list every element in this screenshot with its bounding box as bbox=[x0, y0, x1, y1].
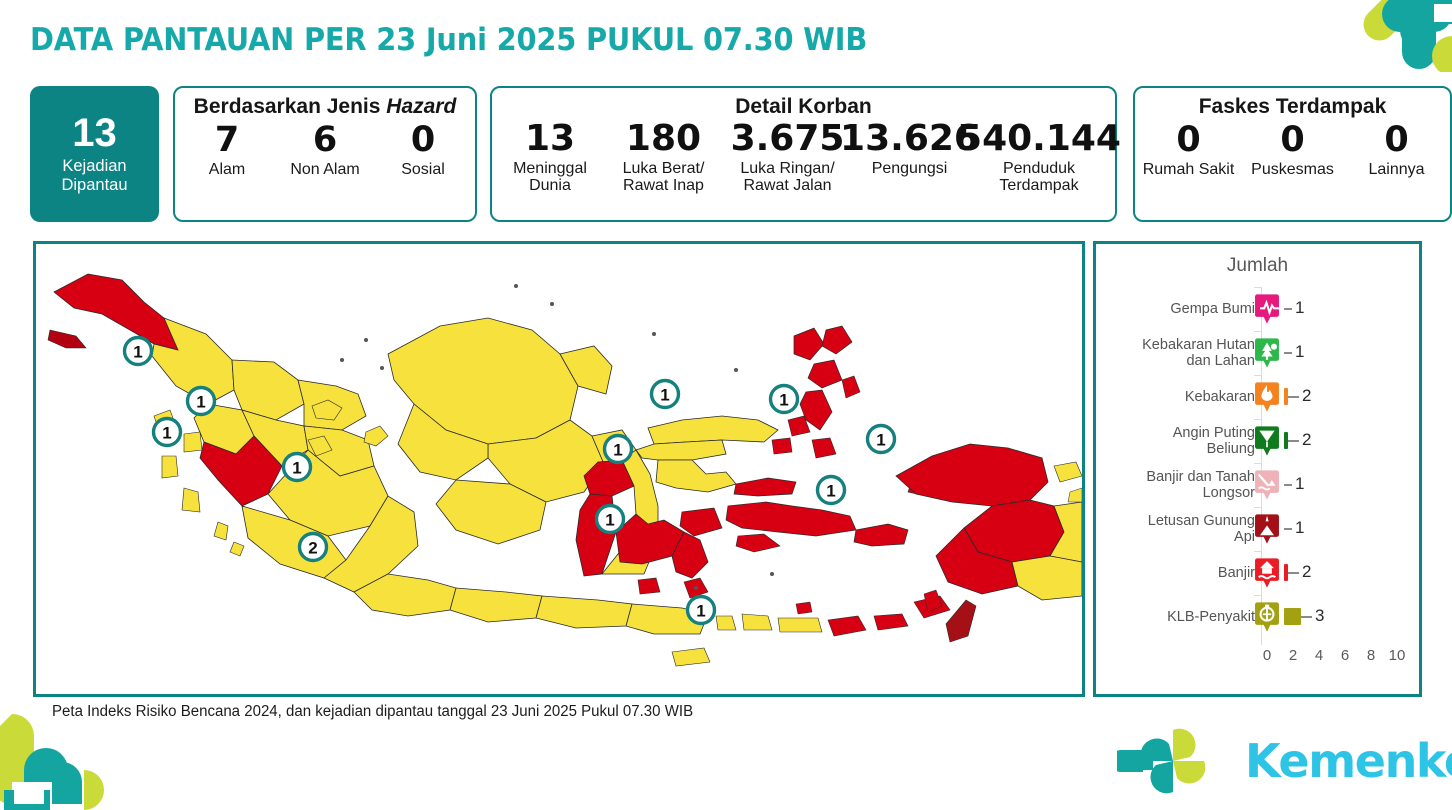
marker-sumbar[interactable]: 1 bbox=[154, 419, 181, 446]
chart-marker-disease-outbreak-icon bbox=[1254, 601, 1280, 633]
earthquake-icon bbox=[1254, 293, 1280, 325]
marker-value: 2 bbox=[308, 539, 317, 558]
x-tick-label: 2 bbox=[1280, 647, 1306, 664]
chart-category-label: Kebakaran Hutandan Lahan bbox=[1095, 337, 1255, 369]
hazard-count-chart-panel: Jumlah Gempa Bumi1Kebakaran Hutandan Lah… bbox=[1093, 241, 1422, 697]
chart-row: Angin PutingBeliung2 bbox=[1096, 419, 1425, 463]
marker-value: 1 bbox=[660, 386, 669, 405]
metric-luka-ringan: 3.675 Luka Ringan/ Rawat Jalan bbox=[725, 120, 850, 195]
faskes-card-title: Faskes Terdampak bbox=[1135, 95, 1450, 119]
chart-value-label: 1 bbox=[1295, 518, 1304, 538]
chart-value-label: 2 bbox=[1302, 562, 1311, 582]
chart-category-label: Kebakaran bbox=[1095, 389, 1255, 405]
x-tick-label: 8 bbox=[1358, 647, 1384, 664]
page-title: DATA PANTAUAN PER 23 Juni 2025 PUKUL 07.… bbox=[30, 22, 867, 58]
faskes-card: Faskes Terdampak 0 Rumah Sakit 0 Puskesm… bbox=[1133, 86, 1452, 222]
metric-luka-berat-label: Luka Berat/ Rawat Inap bbox=[623, 160, 705, 195]
summary-count: 13 bbox=[72, 113, 117, 153]
marker-riau[interactable]: 1 bbox=[188, 388, 215, 415]
chart-value-connector bbox=[1288, 440, 1299, 442]
korban-metrics: 13 Meninggal Dunia 180 Luka Berat/ Rawat… bbox=[492, 120, 1115, 195]
metric-penduduk-terdampak: 540.144 Penduduk Terdampak bbox=[969, 120, 1109, 195]
metric-rumah-sakit-label: Rumah Sakit bbox=[1143, 161, 1235, 179]
metric-alam: 7 Alam bbox=[178, 122, 276, 178]
metric-penduduk-terdampak-label: Penduduk Terdampak bbox=[999, 160, 1078, 195]
metric-puskesmas: 0 Puskesmas bbox=[1241, 122, 1345, 178]
chart-value-label: 3 bbox=[1315, 606, 1324, 626]
chart-value-label: 1 bbox=[1295, 298, 1304, 318]
kemenkes-wordmark: Kemenkes bbox=[1245, 734, 1452, 788]
chart-value-connector bbox=[1301, 616, 1312, 618]
decoration-top-right bbox=[1340, 0, 1452, 100]
metric-meninggal-dunia-value: 13 bbox=[525, 120, 575, 158]
chart-row: Banjir dan TanahLongsor1 bbox=[1096, 463, 1425, 507]
faskes-metrics: 0 Rumah Sakit 0 Puskesmas 0 Lainnya bbox=[1135, 122, 1450, 178]
metric-lainnya-value: 0 bbox=[1384, 122, 1408, 159]
marker-sulteng[interactable]: 1 bbox=[605, 436, 632, 463]
chart-value-connector bbox=[1284, 308, 1292, 310]
marker-papuabarat[interactable]: 1 bbox=[868, 426, 895, 453]
chart-row: Kebakaran2 bbox=[1096, 375, 1425, 419]
metric-non-alam-label: Non Alam bbox=[290, 161, 359, 179]
chart-category-label: KLB-Penyakit bbox=[1095, 609, 1255, 625]
chart-category-label: Angin PutingBeliung bbox=[1095, 425, 1255, 457]
metric-luka-ringan-value: 3.675 bbox=[731, 120, 845, 158]
chart-row: KLB-Penyakit3 bbox=[1096, 595, 1425, 639]
chart-category-label: Gempa Bumi bbox=[1095, 301, 1255, 317]
marker-value: 1 bbox=[876, 431, 885, 450]
chart-row: Banjir2 bbox=[1096, 551, 1425, 595]
chart-value-label: 1 bbox=[1295, 342, 1304, 362]
marker-value: 1 bbox=[292, 459, 301, 478]
disease-outbreak-icon bbox=[1254, 601, 1280, 633]
korban-card-title: Detail Korban bbox=[492, 95, 1115, 119]
chart-marker-volcano-icon bbox=[1254, 513, 1280, 545]
marker-kepri[interactable]: 1 bbox=[284, 454, 311, 481]
chart-value-label: 2 bbox=[1302, 430, 1311, 450]
chart-marker-tornado-icon bbox=[1254, 425, 1280, 457]
metric-meninggal-dunia-label: Meninggal Dunia bbox=[513, 160, 587, 195]
chart-value-connector bbox=[1288, 572, 1299, 574]
chart-value-connector bbox=[1284, 528, 1292, 530]
chart-bar bbox=[1284, 608, 1301, 625]
x-tick-label: 6 bbox=[1332, 647, 1358, 664]
chart-value-connector bbox=[1284, 352, 1292, 354]
kemenkes-logo: Kemenkes bbox=[1117, 722, 1437, 800]
decoration-bottom-left bbox=[0, 714, 118, 810]
metric-lainnya-label: Lainnya bbox=[1368, 161, 1424, 179]
chart-value-label: 2 bbox=[1302, 386, 1311, 406]
metric-luka-berat: 180 Luka Berat/ Rawat Inap bbox=[604, 120, 724, 195]
chart-marker-fire-icon bbox=[1254, 381, 1280, 413]
metric-pengungsi: 13.626 Pengungsi bbox=[852, 120, 968, 177]
metric-pengungsi-label: Pengungsi bbox=[872, 160, 948, 178]
chart-category-label: Letusan GunungApi bbox=[1095, 513, 1255, 545]
metric-penduduk-terdampak-value: 540.144 bbox=[957, 120, 1121, 158]
marker-value: 1 bbox=[779, 391, 788, 410]
chart-x-axis: 0246810 bbox=[1254, 647, 1414, 664]
chart-value-connector bbox=[1288, 396, 1299, 398]
metric-luka-berat-value: 180 bbox=[626, 120, 701, 158]
marker-value: 1 bbox=[613, 441, 622, 460]
hazard-metrics: 7 Alam 6 Non Alam 0 Sosial bbox=[175, 122, 475, 178]
metric-luka-ringan-label: Luka Ringan/ Rawat Jalan bbox=[740, 160, 834, 195]
x-tick-label: 4 bbox=[1306, 647, 1332, 664]
hazard-bar-chart: Gempa Bumi1Kebakaran Hutandan Lahan1Keba… bbox=[1096, 283, 1419, 661]
chart-value-label: 1 bbox=[1295, 474, 1304, 494]
chart-value-connector bbox=[1284, 484, 1292, 486]
metric-rumah-sakit: 0 Rumah Sakit bbox=[1137, 122, 1241, 178]
chart-title: Jumlah bbox=[1096, 255, 1419, 277]
marker-sumut[interactable]: 1 bbox=[125, 338, 152, 365]
volcano-icon bbox=[1254, 513, 1280, 545]
chart-marker-flood-icon bbox=[1254, 557, 1280, 589]
chart-row: Gempa Bumi1 bbox=[1096, 287, 1425, 331]
indonesia-risk-map-panel[interactable]: 111121111111 bbox=[33, 241, 1085, 697]
marker-value: 1 bbox=[162, 424, 171, 443]
marker-banten[interactable]: 2 bbox=[300, 534, 327, 561]
kemenkes-mark-icon bbox=[1117, 722, 1233, 800]
flood-landslide-icon bbox=[1254, 469, 1280, 501]
marker-maluku[interactable]: 1 bbox=[818, 477, 845, 504]
marker-value: 1 bbox=[696, 602, 705, 621]
metric-non-alam: 6 Non Alam bbox=[276, 122, 374, 178]
fire-icon bbox=[1254, 381, 1280, 413]
metric-alam-label: Alam bbox=[209, 161, 245, 179]
marker-malut[interactable]: 1 bbox=[771, 386, 798, 413]
metric-non-alam-value: 6 bbox=[313, 122, 337, 159]
marker-value: 1 bbox=[605, 511, 614, 530]
metric-lainnya: 0 Lainnya bbox=[1345, 122, 1449, 178]
hazard-card-title: Berdasarkan Jenis Hazard bbox=[175, 95, 475, 119]
tornado-icon bbox=[1254, 425, 1280, 457]
marker-gorontalo[interactable]: 1 bbox=[652, 381, 679, 408]
hazard-card: Berdasarkan Jenis Hazard 7 Alam 6 Non Al… bbox=[173, 86, 477, 222]
metric-sosial-value: 0 bbox=[411, 122, 435, 159]
chart-row: Kebakaran Hutandan Lahan1 bbox=[1096, 331, 1425, 375]
metric-puskesmas-value: 0 bbox=[1280, 122, 1304, 159]
metric-puskesmas-label: Puskesmas bbox=[1251, 161, 1334, 179]
x-tick-label: 0 bbox=[1254, 647, 1280, 664]
stats-row: 13 Kejadian Dipantau Berdasarkan Jenis H… bbox=[30, 86, 1422, 222]
map-markers-layer[interactable]: 111121111111 bbox=[36, 244, 1082, 694]
metric-sosial: 0 Sosial bbox=[374, 122, 472, 178]
chart-row: Letusan GunungApi1 bbox=[1096, 507, 1425, 551]
marker-value: 1 bbox=[826, 482, 835, 501]
flood-icon bbox=[1254, 557, 1280, 589]
dashboard-root: DATA PANTAUAN PER 23 Juni 2025 PUKUL 07.… bbox=[0, 0, 1452, 810]
marker-value: 1 bbox=[196, 393, 205, 412]
x-tick-label: 10 bbox=[1384, 647, 1410, 664]
metric-meninggal-dunia: 13 Meninggal Dunia bbox=[498, 120, 602, 195]
chart-marker-flood-landslide-icon bbox=[1254, 469, 1280, 501]
footer-note: Peta Indeks Risiko Bencana 2024, dan kej… bbox=[52, 703, 693, 721]
summary-label: Kejadian Dipantau bbox=[61, 157, 127, 195]
summary-card: 13 Kejadian Dipantau bbox=[30, 86, 159, 222]
marker-value: 1 bbox=[133, 343, 142, 362]
chart-category-label: Banjir bbox=[1095, 565, 1255, 581]
metric-rumah-sakit-value: 0 bbox=[1176, 122, 1200, 159]
marker-sulbar[interactable]: 1 bbox=[597, 506, 624, 533]
marker-ntb[interactable]: 1 bbox=[688, 597, 715, 624]
chart-marker-forest-fire-icon bbox=[1254, 337, 1280, 369]
chart-category-label: Banjir dan TanahLongsor bbox=[1095, 469, 1255, 501]
metric-alam-value: 7 bbox=[215, 122, 239, 159]
forest-fire-icon bbox=[1254, 337, 1280, 369]
chart-marker-earthquake-icon bbox=[1254, 293, 1280, 325]
korban-card: Detail Korban 13 Meninggal Dunia 180 Luk… bbox=[490, 86, 1117, 222]
metric-sosial-label: Sosial bbox=[401, 161, 445, 179]
